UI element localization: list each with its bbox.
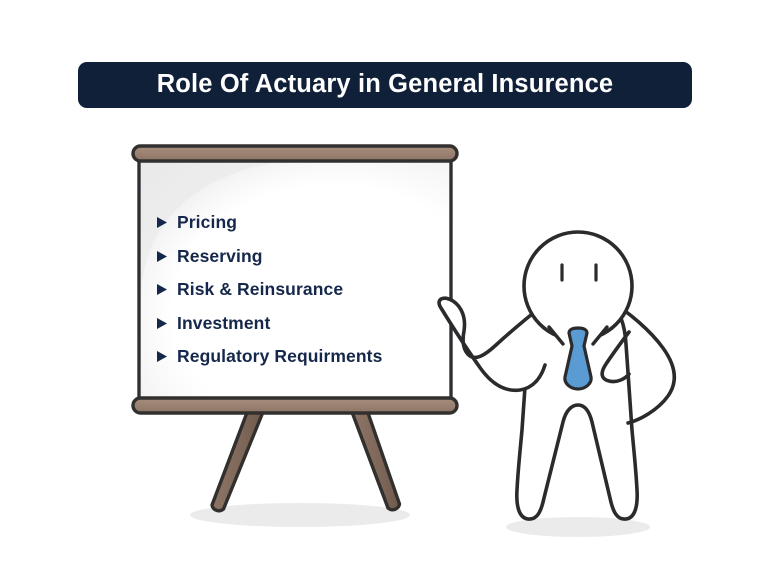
list-item-label: Regulatory Requirments bbox=[177, 348, 382, 366]
easel-legs bbox=[212, 410, 400, 511]
list-item-label: Reserving bbox=[177, 248, 263, 266]
list-item-label: Risk & Reinsurance bbox=[177, 281, 343, 299]
illustration-canvas: Role Of Actuary in General Insurence bbox=[0, 0, 768, 576]
list-item-label: Investment bbox=[177, 315, 270, 333]
board-bottom-bar bbox=[133, 398, 457, 413]
figure-head bbox=[524, 232, 632, 340]
list-item: Regulatory Requirments bbox=[156, 340, 456, 374]
list-item-label: Pricing bbox=[177, 214, 237, 232]
triangle-right-icon bbox=[156, 350, 168, 363]
triangle-right-icon bbox=[156, 250, 168, 263]
easel-leg-left bbox=[212, 410, 263, 511]
triangle-right-icon bbox=[156, 317, 168, 330]
triangle-right-icon bbox=[156, 216, 168, 229]
board-bullet-list: Pricing Reserving Risk & Reinsurance Inv… bbox=[156, 206, 456, 374]
list-item: Reserving bbox=[156, 240, 456, 274]
list-item: Risk & Reinsurance bbox=[156, 273, 456, 307]
triangle-right-icon bbox=[156, 283, 168, 296]
presenter-figure bbox=[439, 232, 674, 519]
board-top-bar bbox=[133, 146, 457, 161]
easel-leg-right bbox=[352, 410, 400, 510]
figure-tie bbox=[565, 328, 591, 389]
list-item: Pricing bbox=[156, 206, 456, 240]
list-item: Investment bbox=[156, 307, 456, 341]
